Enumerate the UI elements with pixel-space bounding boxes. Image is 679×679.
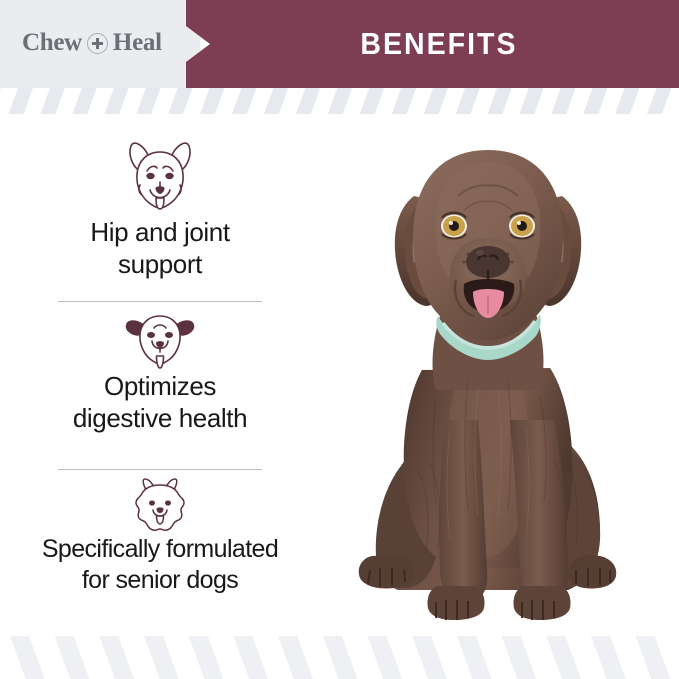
benefit-line-1: Hip and joint [8, 216, 312, 248]
dog-head-corgi-icon [0, 138, 320, 216]
dog-photo [318, 120, 663, 630]
top-stripe-band [0, 88, 679, 114]
benefit-line-1: Optimizes [8, 370, 312, 402]
benefits-infographic: Chew Heal BENEFITS [0, 0, 679, 679]
benefit-line-2: for senior dogs [8, 565, 312, 596]
benefit-line-2: digestive health [8, 402, 312, 434]
dog-head-spitz-icon [0, 476, 320, 534]
header: Chew Heal BENEFITS [0, 0, 679, 88]
header-banner: BENEFITS [186, 0, 679, 88]
brand-logo: Chew Heal [22, 29, 162, 57]
logo-text-right: Heal [113, 29, 162, 57]
logo-text-left: Chew [22, 29, 82, 57]
dog-head-terrier-icon [0, 308, 320, 370]
benefit-line-1: Specifically formulated [8, 534, 312, 565]
benefit-label: Specifically formulated for senior dogs [0, 534, 320, 596]
benefit-item-hip-and-joint: Hip and joint support [0, 138, 320, 280]
plus-in-circle-icon [87, 33, 108, 54]
benefit-item-senior-dogs: Specifically formulated for senior dogs [0, 476, 320, 596]
benefits-list: Hip and joint support [0, 118, 320, 628]
benefit-label: Optimizes digestive health [0, 370, 320, 434]
benefit-line-2: support [8, 248, 312, 280]
divider [58, 301, 262, 302]
divider [58, 469, 262, 470]
page-title: BENEFITS [206, 0, 660, 88]
brand-panel: Chew Heal [0, 0, 200, 88]
bottom-stripe-band [0, 636, 679, 679]
benefit-item-digestive-health: Optimizes digestive health [0, 308, 320, 434]
benefit-label: Hip and joint support [0, 216, 320, 280]
